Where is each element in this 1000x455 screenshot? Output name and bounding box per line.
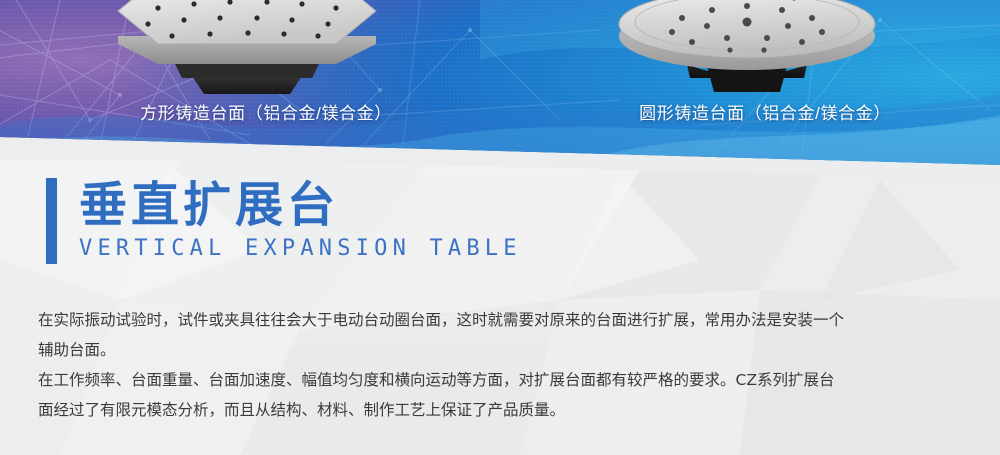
round-table-photo [612,0,882,98]
body-copy: 在实际振动试验时，试件或夹具往往会大于电动台动圈台面，这时就需要对原来的台面进行… [38,305,968,425]
product-intro-page: 方形铸造台面（铝合金/镁合金） 圆形铸造台面（铝合金/镁合金） 垂直扩展台 VE… [0,0,1000,455]
caption-square-table: 方形铸造台面（铝合金/镁合金） [140,99,392,124]
caption-round-table: 圆形铸造台面（铝合金/镁合金） [639,99,891,124]
page-title: 垂直扩展台 [79,176,522,234]
title-accent-bar [46,178,57,264]
body-line-1: 在实际振动试验时，试件或夹具往往会大于电动台动圈台面，这时就需要对原来的台面进行… [38,305,968,335]
square-table-photo [112,0,382,96]
body-line-3: 在工作频率、台面重量、台面加速度、幅值均匀度和横向运动等方面，对扩展台面都有较严… [38,365,968,395]
body-line-2: 辅助台面。 [38,335,968,365]
body-line-4: 面经过了有限元模态分析，而且从结构、材料、制作工艺上保证了产品质量。 [38,395,968,425]
page-subtitle: VERTICAL EXPANSION TABLE [79,236,522,262]
title-block: 垂直扩展台 VERTICAL EXPANSION TABLE [46,176,522,264]
